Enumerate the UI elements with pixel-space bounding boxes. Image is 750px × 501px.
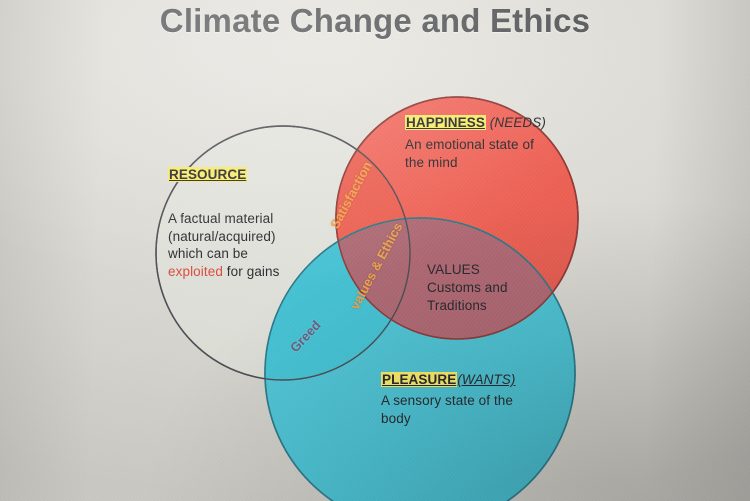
pleasure-subtitle: (WANTS) bbox=[457, 372, 515, 387]
center-values-line2: Customs and bbox=[427, 280, 508, 295]
center-values-line1: VALUES bbox=[427, 262, 480, 277]
center-values-line3: Traditions bbox=[427, 298, 487, 313]
slide-canvas: Climate Change and Ethics bbox=[0, 0, 750, 501]
pleasure-body-line2: body bbox=[381, 411, 411, 426]
label-center-values: VALUES Customs and Traditions bbox=[427, 261, 547, 314]
pleasure-heading: PLEASURE bbox=[381, 372, 457, 387]
happiness-body-line1: An emotional state of bbox=[405, 137, 534, 152]
happiness-heading: HAPPINESS bbox=[405, 115, 486, 130]
happiness-subtitle: (NEEDS) bbox=[490, 115, 546, 130]
resource-emphasis-exploited: exploited bbox=[168, 264, 223, 279]
pleasure-body: A sensory state of the body bbox=[381, 392, 541, 428]
pleasure-body-line1: A sensory state of the bbox=[381, 393, 513, 408]
resource-body: A factual material (natural/acquired) wh… bbox=[168, 210, 318, 281]
resource-body-line4-rest: for gains bbox=[223, 264, 280, 279]
label-happiness: HAPPINESS (NEEDS) An emotional state of … bbox=[405, 114, 580, 171]
resource-body-line2: (natural/acquired) bbox=[168, 229, 276, 244]
label-resource: RESOURCE A factual material (natural/acq… bbox=[168, 166, 318, 281]
page-title: Climate Change and Ethics bbox=[0, 2, 750, 40]
happiness-body-line2: the mind bbox=[405, 155, 458, 170]
resource-body-line1: A factual material bbox=[168, 211, 273, 226]
happiness-body: An emotional state of the mind bbox=[405, 136, 580, 172]
label-pleasure: PLEASURE(WANTS) A sensory state of the b… bbox=[381, 371, 541, 427]
resource-body-line3: which can be bbox=[168, 246, 248, 261]
resource-heading: RESOURCE bbox=[168, 167, 247, 182]
